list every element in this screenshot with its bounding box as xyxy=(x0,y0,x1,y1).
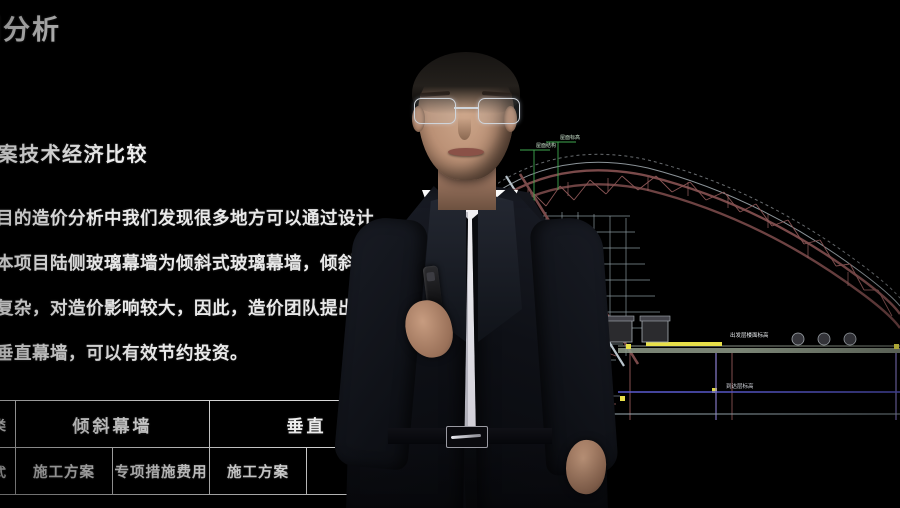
roof-fittings xyxy=(792,333,856,345)
lens-right xyxy=(478,98,520,124)
table-cell-method-vertical: 施工方案 xyxy=(210,448,307,495)
belt-buckle xyxy=(446,426,488,448)
slide-title: 例分析 xyxy=(0,8,61,47)
cad-label-concourse: 到达层标高 xyxy=(726,382,754,390)
mouth xyxy=(448,148,484,156)
glasses-bridge xyxy=(454,107,478,109)
lens-left xyxy=(414,98,456,124)
table-cell-method-inclined: 施工方案 xyxy=(16,448,113,495)
slide-subtitle: 方案技术经济比较 xyxy=(0,138,148,167)
table-lead-cell-group: 类 xyxy=(0,401,16,448)
video-frame: 例分析 方案技术经济比较 项目的造价分析中我们发现很多地方可以通过设计 如本项目… xyxy=(0,0,900,508)
departures-yellow-band xyxy=(646,342,722,346)
table-lead-cell-sub: 式 xyxy=(0,448,16,495)
lower-columns-red xyxy=(630,353,732,420)
departures-slab xyxy=(618,348,900,353)
cad-label-deck: 出发层楼面标高 xyxy=(730,331,769,339)
nose xyxy=(458,118,471,140)
presenter xyxy=(330,36,630,508)
table-cell-special-measures: 专项措施费用 xyxy=(113,448,210,495)
table-group-inclined: 倾斜幕墙 xyxy=(16,401,210,448)
